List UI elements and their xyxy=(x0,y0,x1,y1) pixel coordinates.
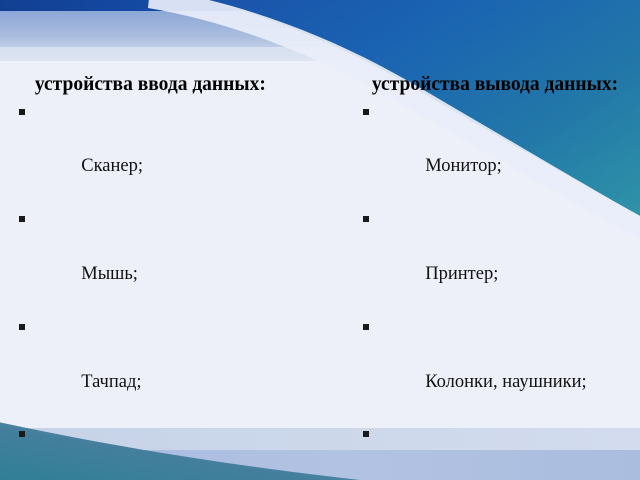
square-bullet-icon xyxy=(363,109,369,115)
square-bullet-icon xyxy=(363,431,369,437)
list-item: Планшет; xyxy=(18,422,336,480)
square-bullet-icon xyxy=(19,109,25,115)
output-devices-list: Монитор; Принтер; Колонки, наушники; Пло… xyxy=(360,100,630,480)
list-item-label: Сканер; xyxy=(81,156,143,176)
input-devices-heading: устройства ввода данных: xyxy=(18,74,336,97)
list-item: Тачпад; xyxy=(18,315,336,423)
square-bullet-icon xyxy=(19,216,25,222)
content-columns: устройства ввода данных: Сканер; Мышь; Т… xyxy=(0,0,640,480)
list-item-label: Монитор; xyxy=(425,156,502,176)
list-item: Сканер; xyxy=(18,100,336,208)
input-devices-list: Сканер; Мышь; Тачпад; Планшет; Джойстик; xyxy=(18,100,336,480)
list-item: Мышь; xyxy=(18,207,336,315)
square-bullet-icon xyxy=(19,324,25,330)
input-devices-column: устройства ввода данных: Сканер; Мышь; Т… xyxy=(18,74,336,480)
slide-canvas: устройства ввода данных: Сканер; Мышь; Т… xyxy=(0,0,640,480)
square-bullet-icon xyxy=(19,431,25,437)
list-item: Монитор; xyxy=(360,100,630,208)
square-bullet-icon xyxy=(363,216,369,222)
output-devices-heading: устройства вывода данных: xyxy=(360,74,630,97)
list-item: Колонки, наушники; xyxy=(360,315,630,423)
list-item-label: Тачпад; xyxy=(81,372,141,392)
list-item-label: Колонки, наушники; xyxy=(425,372,586,392)
output-devices-column: устройства вывода данных: Монитор; Принт… xyxy=(360,74,630,480)
list-item-label: Мышь; xyxy=(81,264,138,284)
list-item: Плоттер; xyxy=(360,422,630,480)
list-item: Принтер; xyxy=(360,207,630,315)
square-bullet-icon xyxy=(363,324,369,330)
list-item-label: Принтер; xyxy=(425,264,498,284)
